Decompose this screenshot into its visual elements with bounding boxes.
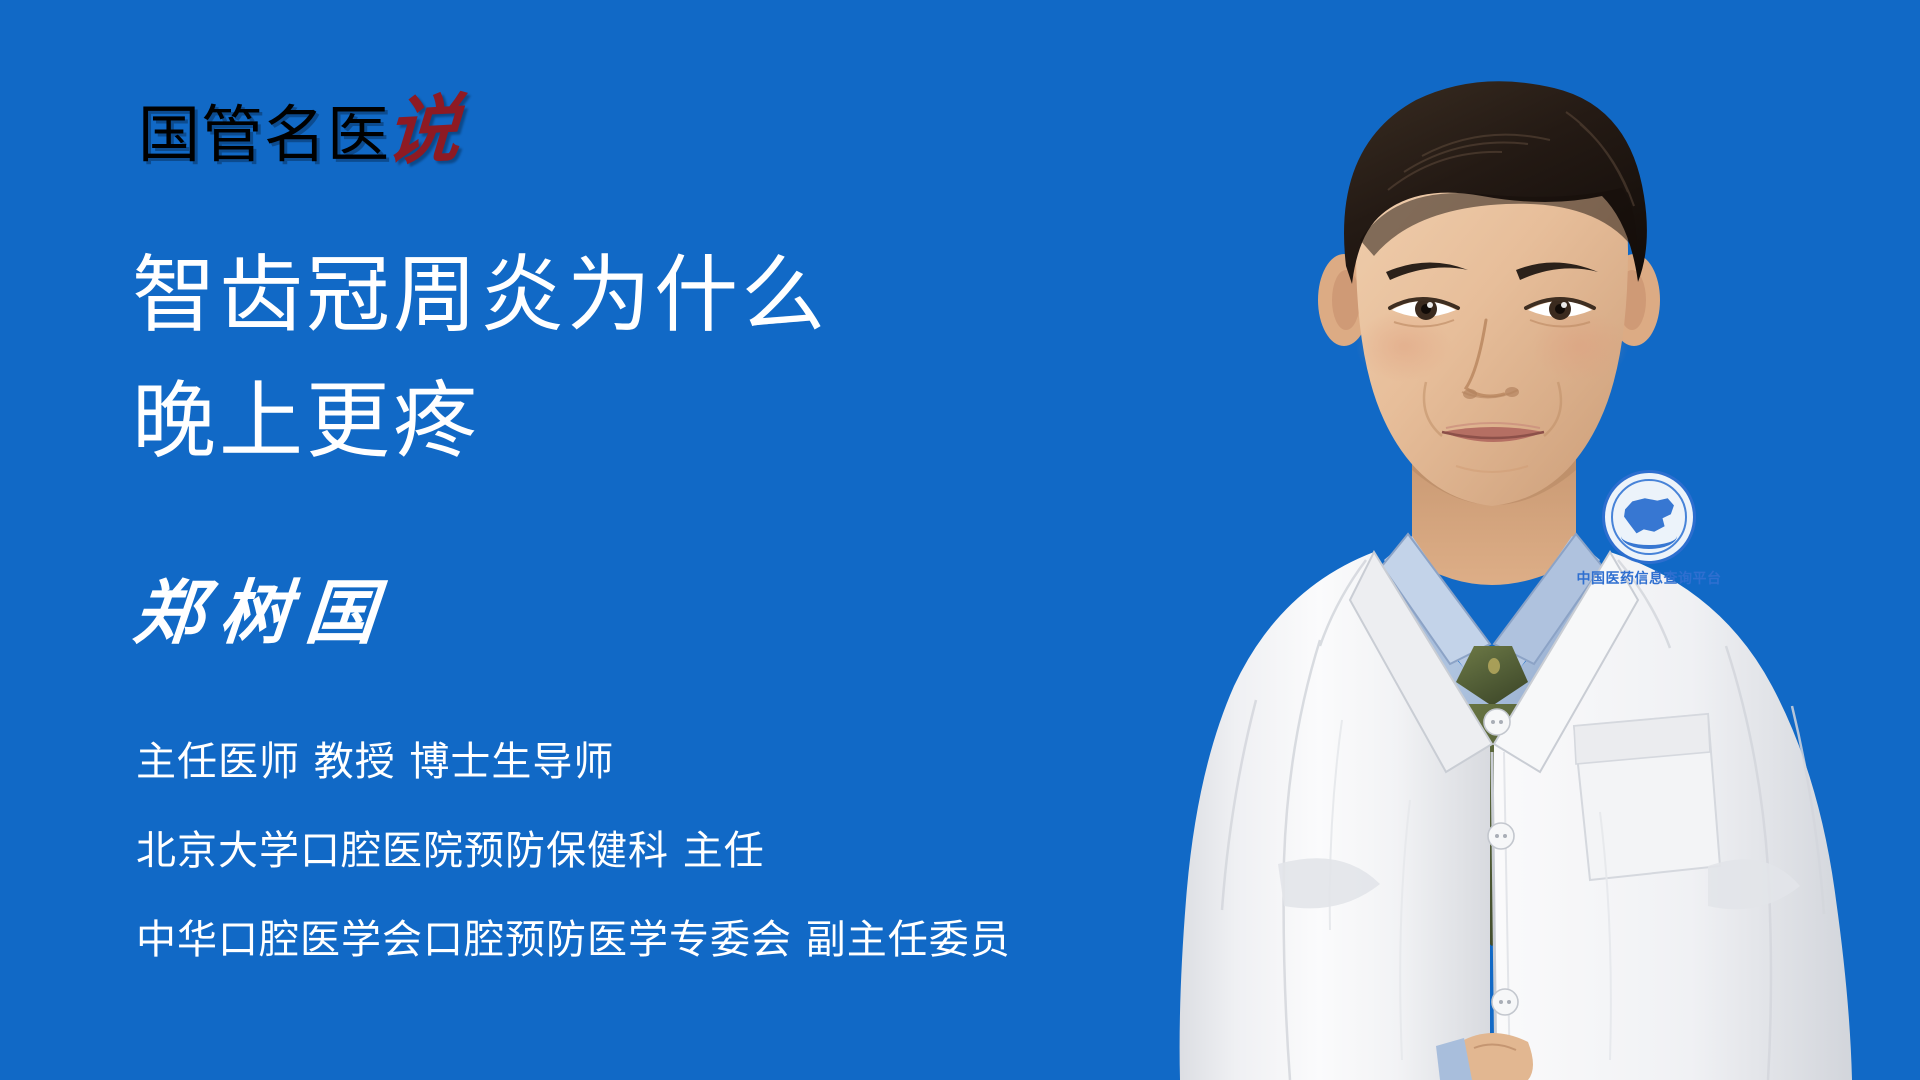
poster-canvas: 中国医药信息查询平台 国管名医 说 智齿冠周炎为什么 晚上更疼 郑树国 主任医师… bbox=[0, 0, 1920, 1080]
doctor-credentials: 主任医师 教授 博士生导师 北京大学口腔医院预防保健科 主任 中华口腔医学会口腔… bbox=[136, 718, 1196, 985]
headline-line-2: 晚上更疼 bbox=[132, 358, 1132, 484]
credential-line-1: 主任医师 教授 博士生导师 bbox=[136, 718, 1196, 807]
headline: 智齿冠周炎为什么 晚上更疼 bbox=[132, 232, 1132, 484]
program-logo-accent-text: 说 bbox=[384, 98, 462, 164]
headline-line-1: 智齿冠周炎为什么 bbox=[132, 232, 1132, 358]
credential-line-2: 北京大学口腔医院预防保健科 主任 bbox=[136, 807, 1196, 896]
doctor-name: 郑树国 bbox=[130, 572, 395, 654]
program-logo: 国管名医 说 bbox=[138, 96, 460, 174]
program-logo-main-text: 国管名医 bbox=[138, 104, 390, 166]
credential-line-3: 中华口腔医学会口腔预防医学专委会 副主任委员 bbox=[136, 896, 1196, 985]
text-column: 国管名医 说 智齿冠周炎为什么 晚上更疼 郑树国 主任医师 教授 博士生导师 北… bbox=[0, 0, 1240, 1080]
doctor-portrait: 中国医药信息查询平台 bbox=[1160, 0, 1920, 1080]
